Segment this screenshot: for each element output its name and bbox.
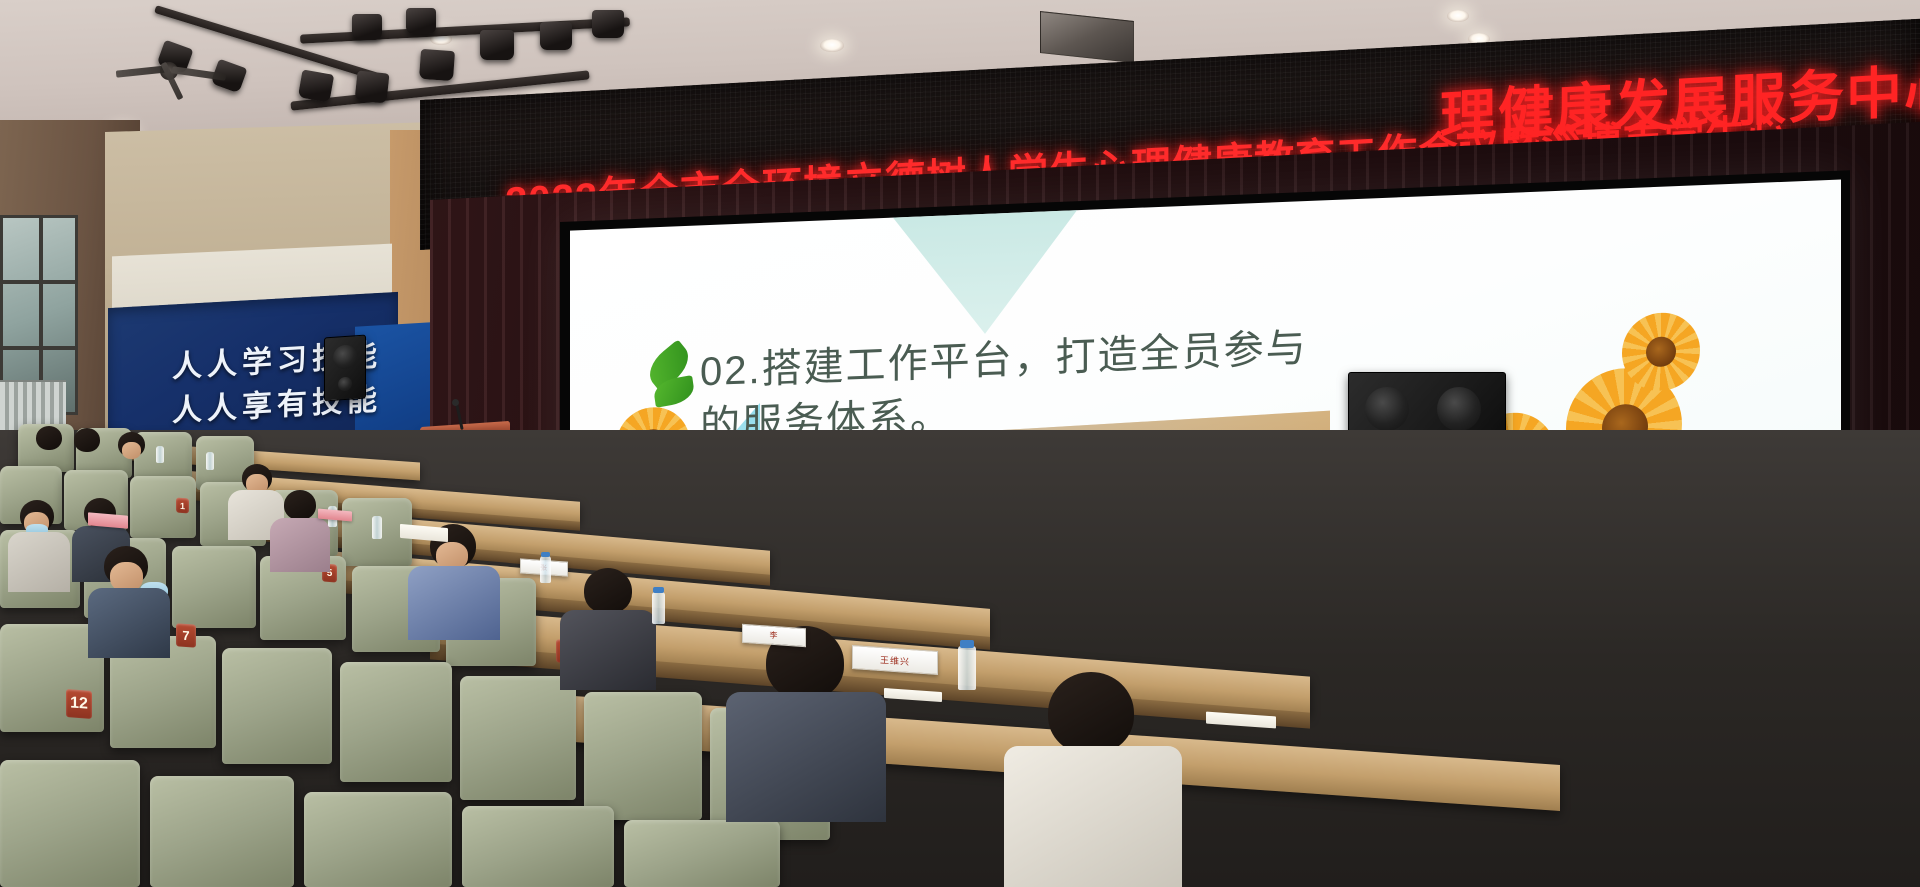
audience-person-head	[36, 426, 62, 450]
downlight	[1447, 10, 1469, 22]
audience-person-face	[122, 442, 141, 459]
water-bottle	[540, 556, 551, 583]
stage-spotlight	[406, 8, 436, 34]
stage-spotlight	[480, 30, 514, 60]
window-mullion	[3, 280, 75, 284]
audience-chair	[150, 776, 294, 887]
audience-chair	[584, 692, 702, 820]
audience-person-body	[8, 532, 70, 592]
audience-person-body	[560, 610, 656, 690]
audience-person-head	[284, 490, 316, 520]
audience-chair	[304, 792, 452, 887]
audience-chair	[462, 806, 614, 887]
audience-person-body	[270, 518, 330, 572]
bottle-cap	[541, 552, 550, 557]
bottle-cap	[653, 587, 664, 593]
water-bottle	[206, 452, 214, 470]
conference-hall-photo: 人人学习技能 人人享有技能 2022年全市全环境立德树人学生心理健康教育工作会议…	[0, 0, 1920, 887]
window-mullion	[3, 346, 75, 350]
seat-number-badge: 1	[176, 498, 189, 514]
stage-spotlight	[355, 70, 390, 103]
audience-person-body	[726, 692, 886, 822]
water-bottle	[958, 646, 976, 690]
seat-number-badge: 12	[66, 689, 92, 719]
water-bottle	[372, 516, 382, 539]
speaker-cone-icon	[338, 377, 352, 392]
wall-speaker	[324, 335, 366, 402]
water-bottle	[156, 446, 164, 463]
audience-chair	[340, 662, 452, 782]
audience-chair	[222, 648, 332, 764]
microphone-head-icon	[452, 399, 459, 406]
stage-spotlight	[298, 69, 334, 102]
speaker-cone-icon	[333, 344, 357, 370]
water-bottle	[652, 592, 665, 624]
audience-person-body	[88, 588, 170, 658]
audience-person-head	[1048, 672, 1134, 754]
audience-chair	[460, 676, 576, 800]
audience-chair	[624, 820, 780, 887]
bottle-cap	[960, 640, 974, 648]
downlight	[820, 39, 844, 52]
seat-number-badge: 7	[176, 623, 196, 647]
speaker-cone-icon	[1365, 387, 1409, 431]
audience-chair	[172, 546, 256, 628]
audience-chair	[0, 760, 140, 887]
stage-spotlight	[592, 10, 624, 38]
stage-spotlight	[352, 14, 382, 40]
stage-spotlight	[419, 49, 455, 81]
stage-spotlight	[540, 22, 572, 50]
audience-person-body	[408, 566, 500, 640]
audience-person-head	[584, 568, 632, 614]
speaker-cone-icon	[1437, 387, 1481, 431]
audience-person-body	[1004, 746, 1182, 887]
audience-person-head	[74, 428, 100, 452]
